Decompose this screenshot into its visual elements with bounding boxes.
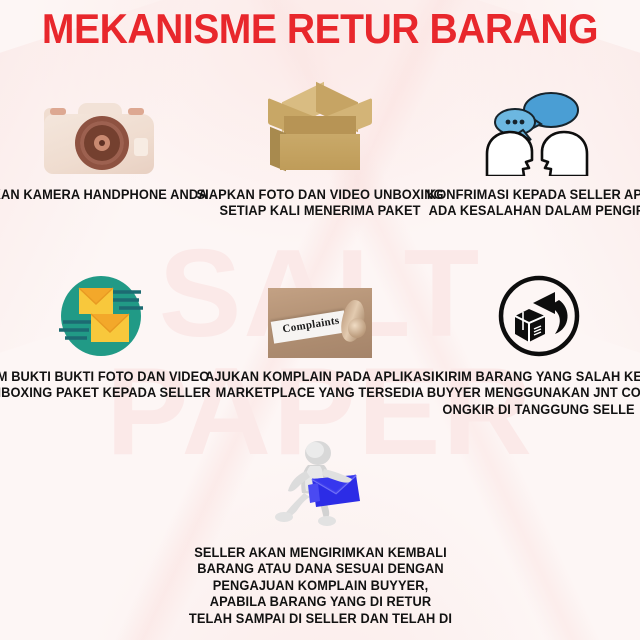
step-5-caption: AJUKAN KOMPLAIN PADA APLIKASI MARKETPLAC… <box>205 369 435 402</box>
return-package-icon <box>493 272 585 358</box>
step-7-icon-wrap <box>272 435 368 531</box>
chat-heads-icon <box>477 92 597 176</box>
step-1-icon-wrap <box>58 80 156 176</box>
step-7-caption-line-3: PENGAJUAN KOMPLAIN BUYYER, <box>188 578 451 594</box>
page-title: MEKANISME RETUR BARANG <box>22 8 617 50</box>
infographic-poster: SALT PAPER MEKANISME RETUR BARANG <box>0 0 640 640</box>
step-2-icon-wrap <box>266 80 374 176</box>
step-3: KONFRIMASI KEPADA SELLER APA ADA KESALAH… <box>427 80 640 220</box>
step-6: KIRIM BARANG YANG SALAH KE BUYYER MENGGU… <box>427 262 640 418</box>
step-4-caption-line-2: NBOXING PAKET KEPADA SELLER <box>0 385 211 401</box>
step-2-caption-line-2: SETIAP KALI MENERIMA PAKET <box>196 203 443 219</box>
steps-row-3: SELLER AKAN MENGIRIMKAN KEMBALI BARANG A… <box>0 435 640 627</box>
step-2-caption-line-1: SIAPKAN FOTO DAN VIDEO UNBOXING <box>196 187 443 203</box>
step-3-caption: KONFRIMASI KEPADA SELLER APA ADA KESALAH… <box>427 187 640 220</box>
step-3-caption-line-2: ADA KESALAHAN DALAM PENGIRI <box>427 203 640 219</box>
step-2-caption: SIAPKAN FOTO DAN VIDEO UNBOXING SETIAP K… <box>196 187 443 220</box>
step-7-caption-line-5: TELAH SAMPAI DI SELLER DAN TELAH DI <box>188 611 451 627</box>
step-2: SIAPKAN FOTO DAN VIDEO UNBOXING SETIAP K… <box>213 80 426 220</box>
step-3-icon-wrap <box>477 80 589 176</box>
envelopes-circle-icon <box>43 274 153 358</box>
step-1-caption-line-1: KAN KAMERA HANDPHONE ANDA <box>0 187 208 203</box>
steps-row-1: KAN KAMERA HANDPHONE ANDA SIAPKAN FOTO D… <box>0 80 640 220</box>
step-7-caption-line-1: SELLER AKAN MENGIRIMKAN KEMBALI <box>188 545 451 561</box>
step-4-caption-line-1: IM BUKTI BUKTI FOTO DAN VIDEO <box>0 369 211 385</box>
complaints-note-icon: Complaints <box>268 288 372 358</box>
step-5-caption-line-1: AJUKAN KOMPLAIN PADA APLIKASI <box>205 369 435 385</box>
open-box-icon <box>266 90 374 176</box>
step-6-caption-line-1: KIRIM BARANG YANG SALAH KE <box>427 369 640 385</box>
step-6-caption-line-3: ONGKIR DI TANGGUNG SELLE <box>427 402 640 418</box>
step-7-caption-line-2: BARANG ATAU DANA SESUAI DENGAN <box>188 561 451 577</box>
step-5-caption-line-2: MARKETPLACE YANG TERSEDIA <box>205 385 435 401</box>
step-4-icon-wrap <box>61 262 153 358</box>
step-3-caption-line-1: KONFRIMASI KEPADA SELLER APA <box>427 187 640 203</box>
step-4: IM BUKTI BUKTI FOTO DAN VIDEO NBOXING PA… <box>0 262 213 418</box>
step-6-caption: KIRIM BARANG YANG SALAH KE BUYYER MENGGU… <box>427 369 640 418</box>
camera-icon <box>38 100 156 176</box>
step-4-caption: IM BUKTI BUKTI FOTO DAN VIDEO NBOXING PA… <box>0 369 211 402</box>
step-7-caption: SELLER AKAN MENGIRIMKAN KEMBALI BARANG A… <box>188 545 451 627</box>
step-7: SELLER AKAN MENGIRIMKAN KEMBALI BARANG A… <box>0 435 640 627</box>
running-courier-icon <box>272 439 368 531</box>
step-6-caption-line-2: BUYYER MENGGUNAKAN JNT COD <box>427 385 640 401</box>
step-5: Complaints AJUKAN KOMPLAIN PADA APLIKASI… <box>213 262 426 418</box>
step-1: KAN KAMERA HANDPHONE ANDA <box>0 80 213 220</box>
step-5-icon-wrap: Complaints <box>268 262 372 358</box>
step-1-caption: KAN KAMERA HANDPHONE ANDA <box>0 187 208 203</box>
step-7-caption-line-4: APABILA BARANG YANG DI RETUR <box>188 594 451 610</box>
step-6-icon-wrap <box>493 262 573 358</box>
steps-row-2: IM BUKTI BUKTI FOTO DAN VIDEO NBOXING PA… <box>0 262 640 418</box>
